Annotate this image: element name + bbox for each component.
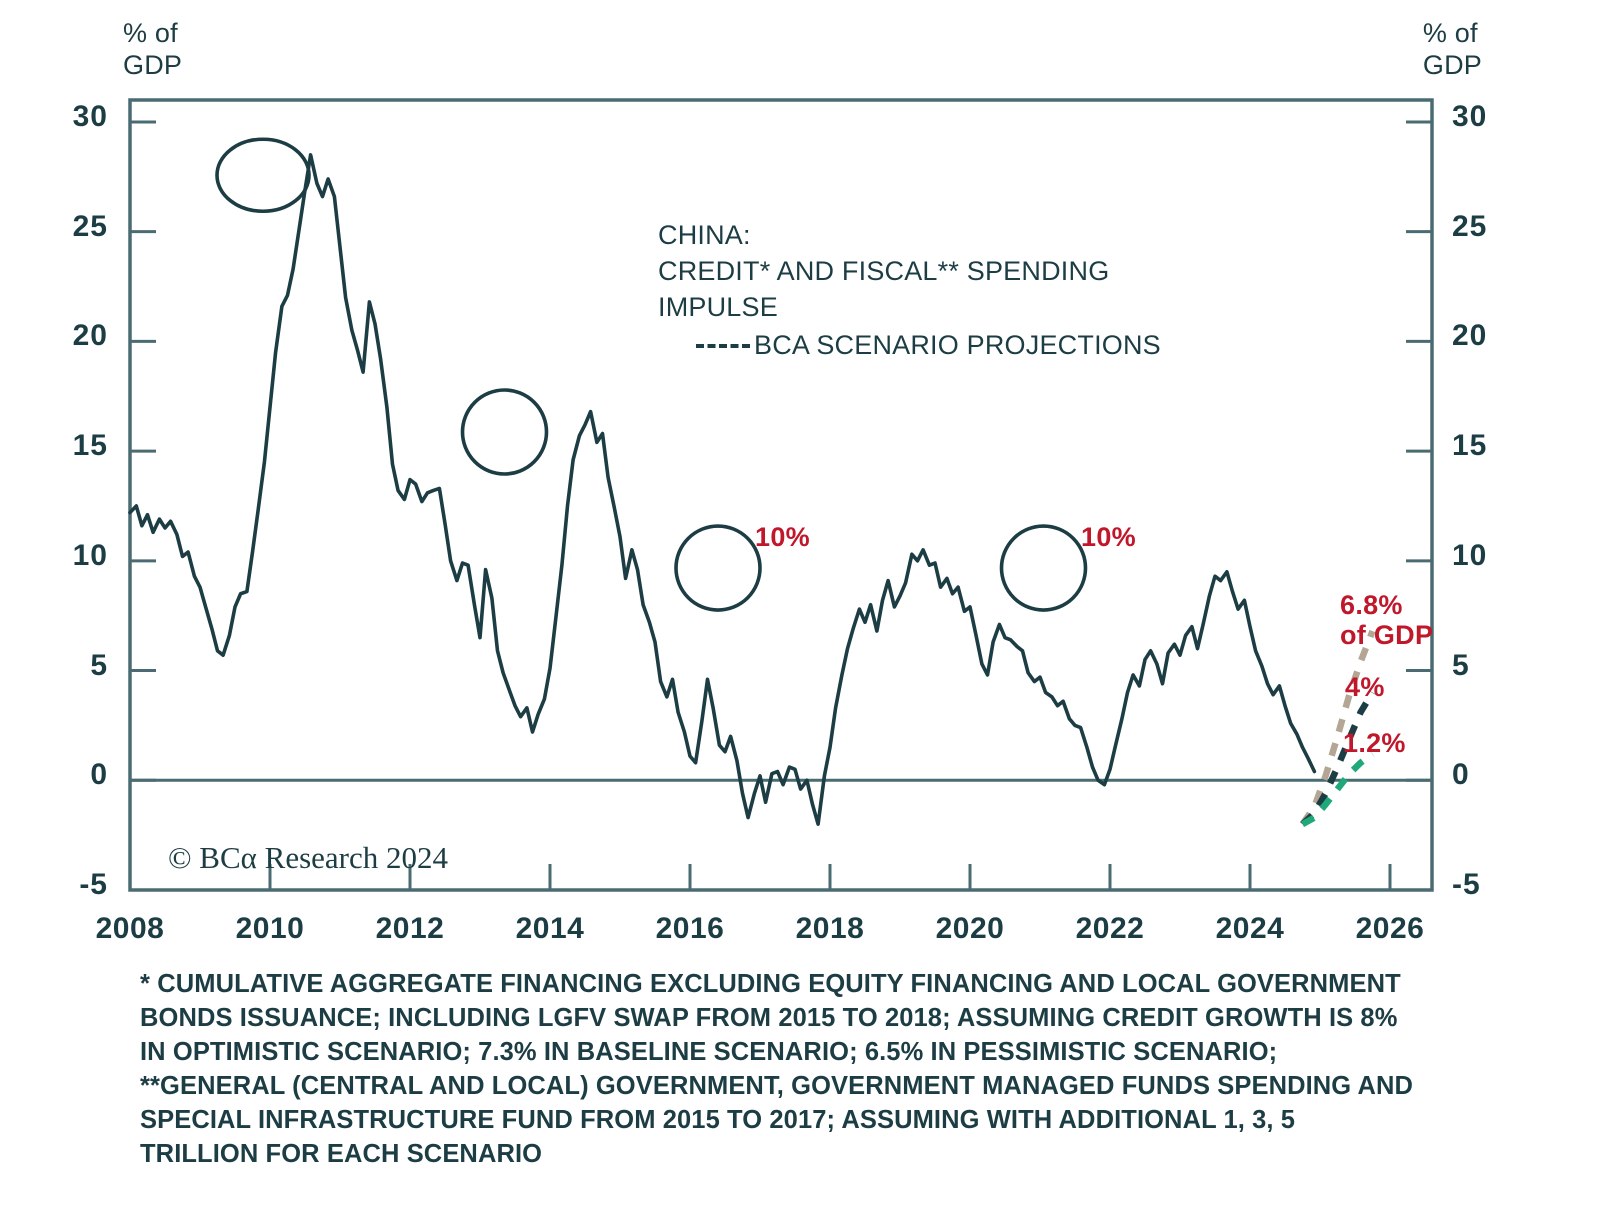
callout-projection-pessimistic: 1.2% bbox=[1343, 728, 1406, 759]
y-tick-label-right: 10 bbox=[1452, 539, 1487, 573]
peak-circle bbox=[217, 139, 309, 211]
x-tick-label: 2008 bbox=[96, 912, 165, 946]
y-tick-label-left: 0 bbox=[0, 758, 108, 792]
y-tick-label-right: 25 bbox=[1452, 210, 1487, 244]
x-tick-label: 2022 bbox=[1076, 912, 1145, 946]
legend-line-3: IMPULSE bbox=[658, 290, 1161, 326]
y-tick-label-left: 15 bbox=[0, 429, 108, 463]
footnote-line-1: * CUMULATIVE AGGREGATE FINANCING EXCLUDI… bbox=[140, 968, 1480, 1002]
x-tick-label: 2020 bbox=[936, 912, 1005, 946]
x-tick-label: 2010 bbox=[236, 912, 305, 946]
legend-projection-row: BCA SCENARIO PROJECTIONS bbox=[696, 328, 1161, 364]
y-tick-label-right: 15 bbox=[1452, 429, 1487, 463]
legend-line-2: CREDIT* AND FISCAL** SPENDING bbox=[658, 254, 1161, 290]
y-tick-label-right: 0 bbox=[1452, 758, 1470, 792]
y-tick-label-left: 30 bbox=[0, 100, 108, 134]
peak-circle bbox=[676, 526, 760, 610]
x-tick-label: 2016 bbox=[656, 912, 725, 946]
legend-line-1: CHINA: bbox=[658, 218, 1161, 254]
callout-projection-baseline: 4% bbox=[1345, 672, 1385, 703]
chart-legend: CHINA: CREDIT* AND FISCAL** SPENDING IMP… bbox=[658, 218, 1161, 364]
footnote-line-5: SPECIAL INFRASTRUCTURE FUND FROM 2015 TO… bbox=[140, 1104, 1480, 1138]
x-tick-label: 2012 bbox=[376, 912, 445, 946]
x-tick-label: 2026 bbox=[1356, 912, 1425, 946]
y-tick-label-left: -5 bbox=[0, 868, 108, 902]
y-tick-label-right: 20 bbox=[1452, 319, 1487, 353]
footnote-line-3: IN OPTIMISTIC SCENARIO; 7.3% IN BASELINE… bbox=[140, 1036, 1480, 1070]
footnote-line-6: TRILLION FOR EACH SCENARIO bbox=[140, 1138, 1480, 1172]
y-tick-label-right: 30 bbox=[1452, 100, 1487, 134]
chart-footnote: * CUMULATIVE AGGREGATE FINANCING EXCLUDI… bbox=[140, 968, 1480, 1171]
y-tick-label-right: 5 bbox=[1452, 649, 1470, 683]
callout-peak-2021: 10% bbox=[1081, 522, 1136, 553]
y-tick-label-left: 5 bbox=[0, 649, 108, 683]
y-tick-label-left: 25 bbox=[0, 210, 108, 244]
x-tick-label: 2018 bbox=[796, 912, 865, 946]
y-tick-label-left: 10 bbox=[0, 539, 108, 573]
callout-peak-2016: 10% bbox=[755, 522, 810, 553]
footnote-line-2: BONDS ISSUANCE; INCLUDING LGFV SWAP FROM… bbox=[140, 1002, 1480, 1036]
footnote-line-4: **GENERAL (CENTRAL AND LOCAL) GOVERNMENT… bbox=[140, 1070, 1480, 1104]
dashed-line-icon bbox=[696, 344, 750, 348]
x-tick-label: 2014 bbox=[516, 912, 585, 946]
copyright-notice: © BCα Research 2024 bbox=[168, 840, 448, 876]
x-tick-label: 2024 bbox=[1216, 912, 1285, 946]
y-tick-label-right: -5 bbox=[1452, 868, 1481, 902]
legend-projection-label: BCA SCENARIO PROJECTIONS bbox=[754, 328, 1161, 364]
peak-circle bbox=[1002, 526, 1086, 610]
callout-projection-optimistic: 6.8% of GDP bbox=[1340, 590, 1433, 650]
y-tick-label-left: 20 bbox=[0, 319, 108, 353]
peak-circle bbox=[463, 390, 547, 474]
chart-root: % of GDP % of GDP 302520151050-5 3025201… bbox=[0, 0, 1600, 1218]
